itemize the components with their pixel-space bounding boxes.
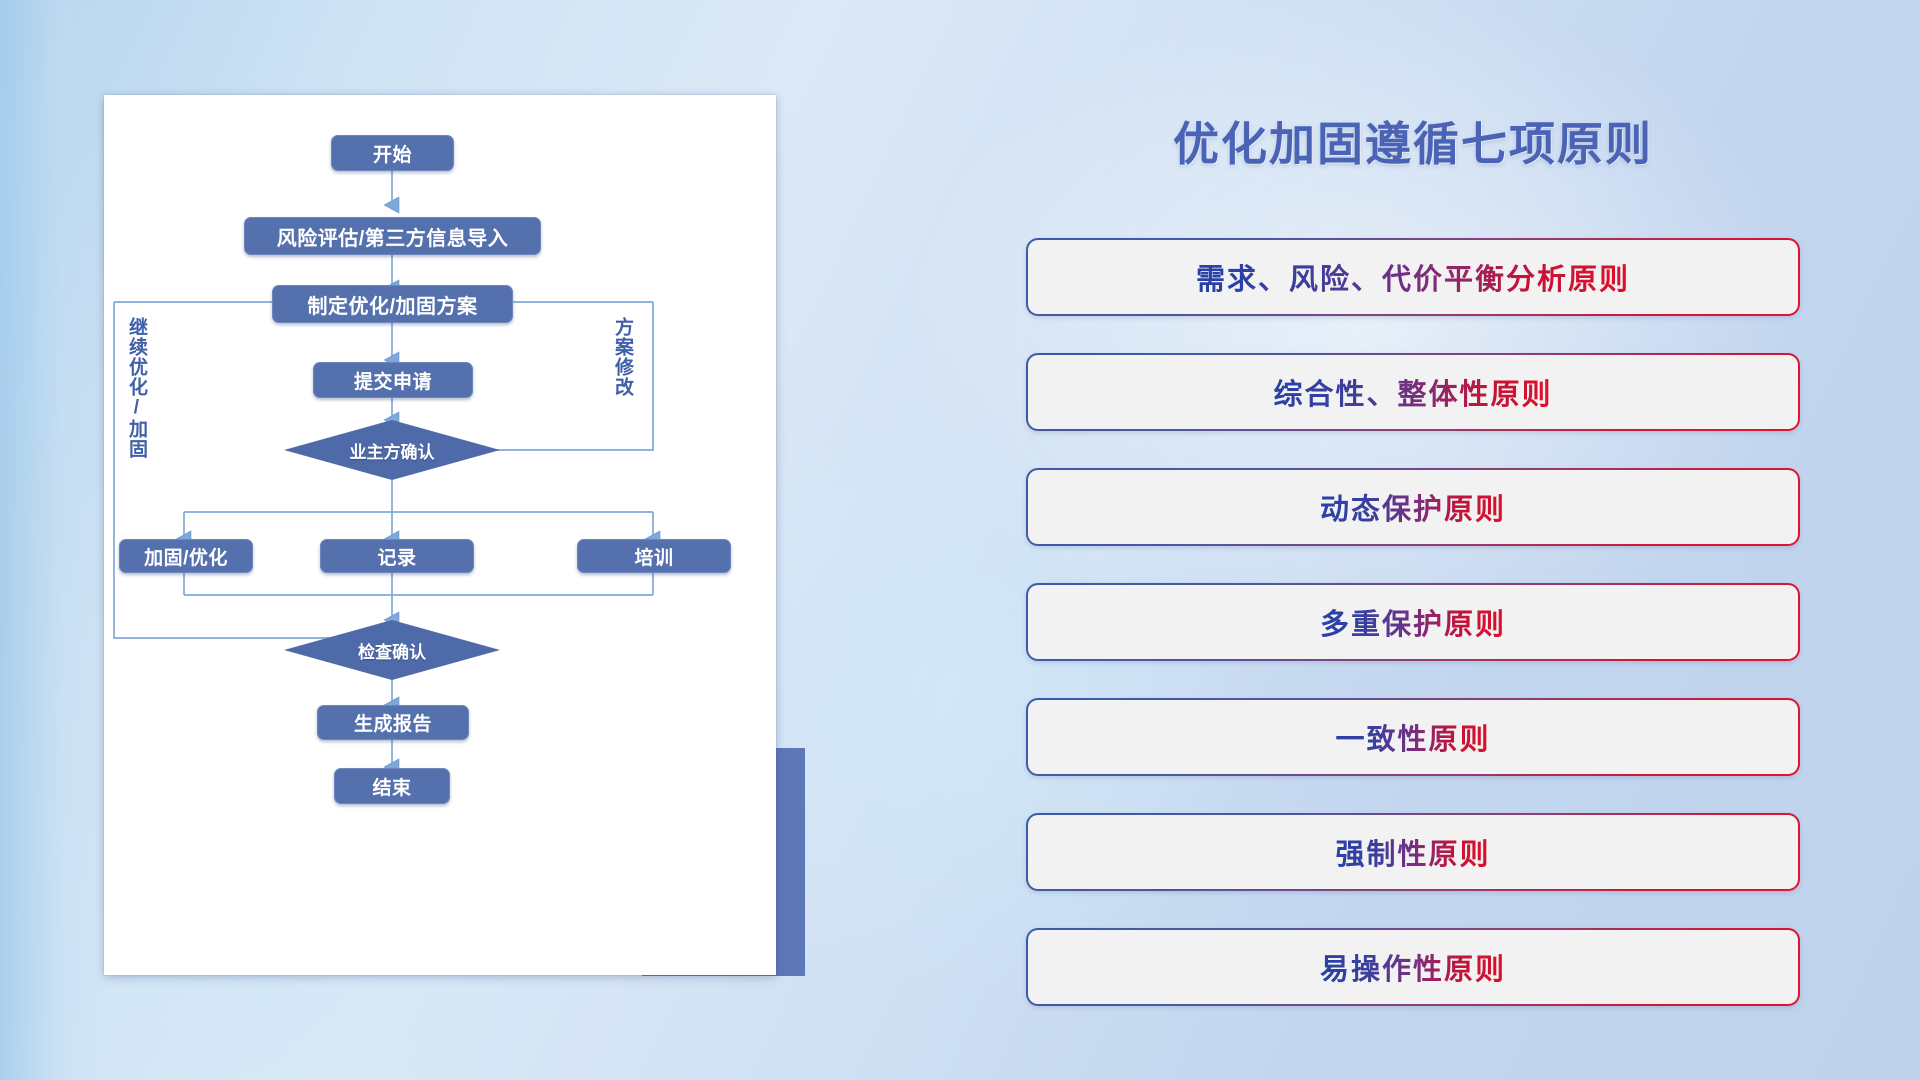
flow-node-record[interactable]: 记录 <box>320 539 474 573</box>
flow-node-reinforce[interactable]: 加固/优化 <box>119 539 253 573</box>
principle-card-label: 动态保护原则 <box>1320 486 1506 528</box>
flow-node-start-label: 开始 <box>373 140 412 167</box>
flow-node-record-label: 记录 <box>377 543 416 570</box>
flow-node-end-label: 结束 <box>372 773 411 800</box>
flow-node-inspect-confirm[interactable]: 检查确认 <box>284 620 500 680</box>
flow-node-inspect-confirm-label: 检查确认 <box>358 638 426 663</box>
principle-card-inner: 需求、风险、代价平衡分析原则 <box>1028 240 1798 314</box>
flow-node-plan-label: 制定优化/加固方案 <box>307 290 477 319</box>
principle-card-label: 综合性、整体性原则 <box>1273 371 1552 413</box>
flow-node-end[interactable]: 结束 <box>334 768 450 804</box>
principle-card-inner: 一致性原则 <box>1028 700 1798 774</box>
flow-node-owner-confirm-label: 业主方确认 <box>350 438 435 463</box>
edge-label-continue-optimize: 继续优化/加固 <box>126 317 146 459</box>
flow-node-risk-assessment[interactable]: 风险评估/第三方信息导入 <box>244 217 541 255</box>
principle-card[interactable]: 易操作性原则 <box>1026 928 1800 1006</box>
flow-node-training[interactable]: 培训 <box>577 539 731 573</box>
principle-card-label: 易操作性原则 <box>1320 946 1506 988</box>
principle-card-inner: 易操作性原则 <box>1028 930 1798 1004</box>
flow-node-submit-label: 提交申请 <box>354 367 432 394</box>
principle-card[interactable]: 强制性原则 <box>1026 813 1800 891</box>
principle-card-label: 强制性原则 <box>1335 831 1490 873</box>
principle-card-label: 多重保护原则 <box>1320 601 1506 643</box>
principle-card-label: 一致性原则 <box>1335 716 1490 758</box>
flow-node-training-label: 培训 <box>634 543 673 570</box>
principles-card-list: 需求、风险、代价平衡分析原则 综合性、整体性原则 动态保护原则 多重保护原则 一… <box>1026 238 1800 1043</box>
flow-node-report[interactable]: 生成报告 <box>317 705 469 740</box>
principle-card-inner: 综合性、整体性原则 <box>1028 355 1798 429</box>
flow-node-report-label: 生成报告 <box>354 709 432 736</box>
edge-label-plan-revision: 方案修改 <box>612 317 632 397</box>
slide-canvas: 开始 风险评估/第三方信息导入 制定优化/加固方案 提交申请 业主方确认 加固/… <box>0 0 1920 1080</box>
principles-panel-title: 优化加固遵循七项原则 <box>1026 108 1800 174</box>
flow-node-owner-confirm[interactable]: 业主方确认 <box>284 420 500 480</box>
principle-card[interactable]: 综合性、整体性原则 <box>1026 353 1800 431</box>
flow-node-reinforce-label: 加固/优化 <box>144 543 228 570</box>
flow-node-submit[interactable]: 提交申请 <box>313 362 473 398</box>
principle-card[interactable]: 一致性原则 <box>1026 698 1800 776</box>
principle-card-inner: 强制性原则 <box>1028 815 1798 889</box>
flow-node-risk-assessment-label: 风险评估/第三方信息导入 <box>277 222 509 251</box>
principle-card[interactable]: 多重保护原则 <box>1026 583 1800 661</box>
principle-card-inner: 多重保护原则 <box>1028 585 1798 659</box>
flowchart-card: 开始 风险评估/第三方信息导入 制定优化/加固方案 提交申请 业主方确认 加固/… <box>104 95 776 975</box>
flow-node-plan[interactable]: 制定优化/加固方案 <box>272 285 513 323</box>
principle-card[interactable]: 需求、风险、代价平衡分析原则 <box>1026 238 1800 316</box>
principle-card-label: 需求、风险、代价平衡分析原则 <box>1196 256 1630 298</box>
principle-card-inner: 动态保护原则 <box>1028 470 1798 544</box>
principle-card[interactable]: 动态保护原则 <box>1026 468 1800 546</box>
flow-node-start[interactable]: 开始 <box>331 135 454 171</box>
